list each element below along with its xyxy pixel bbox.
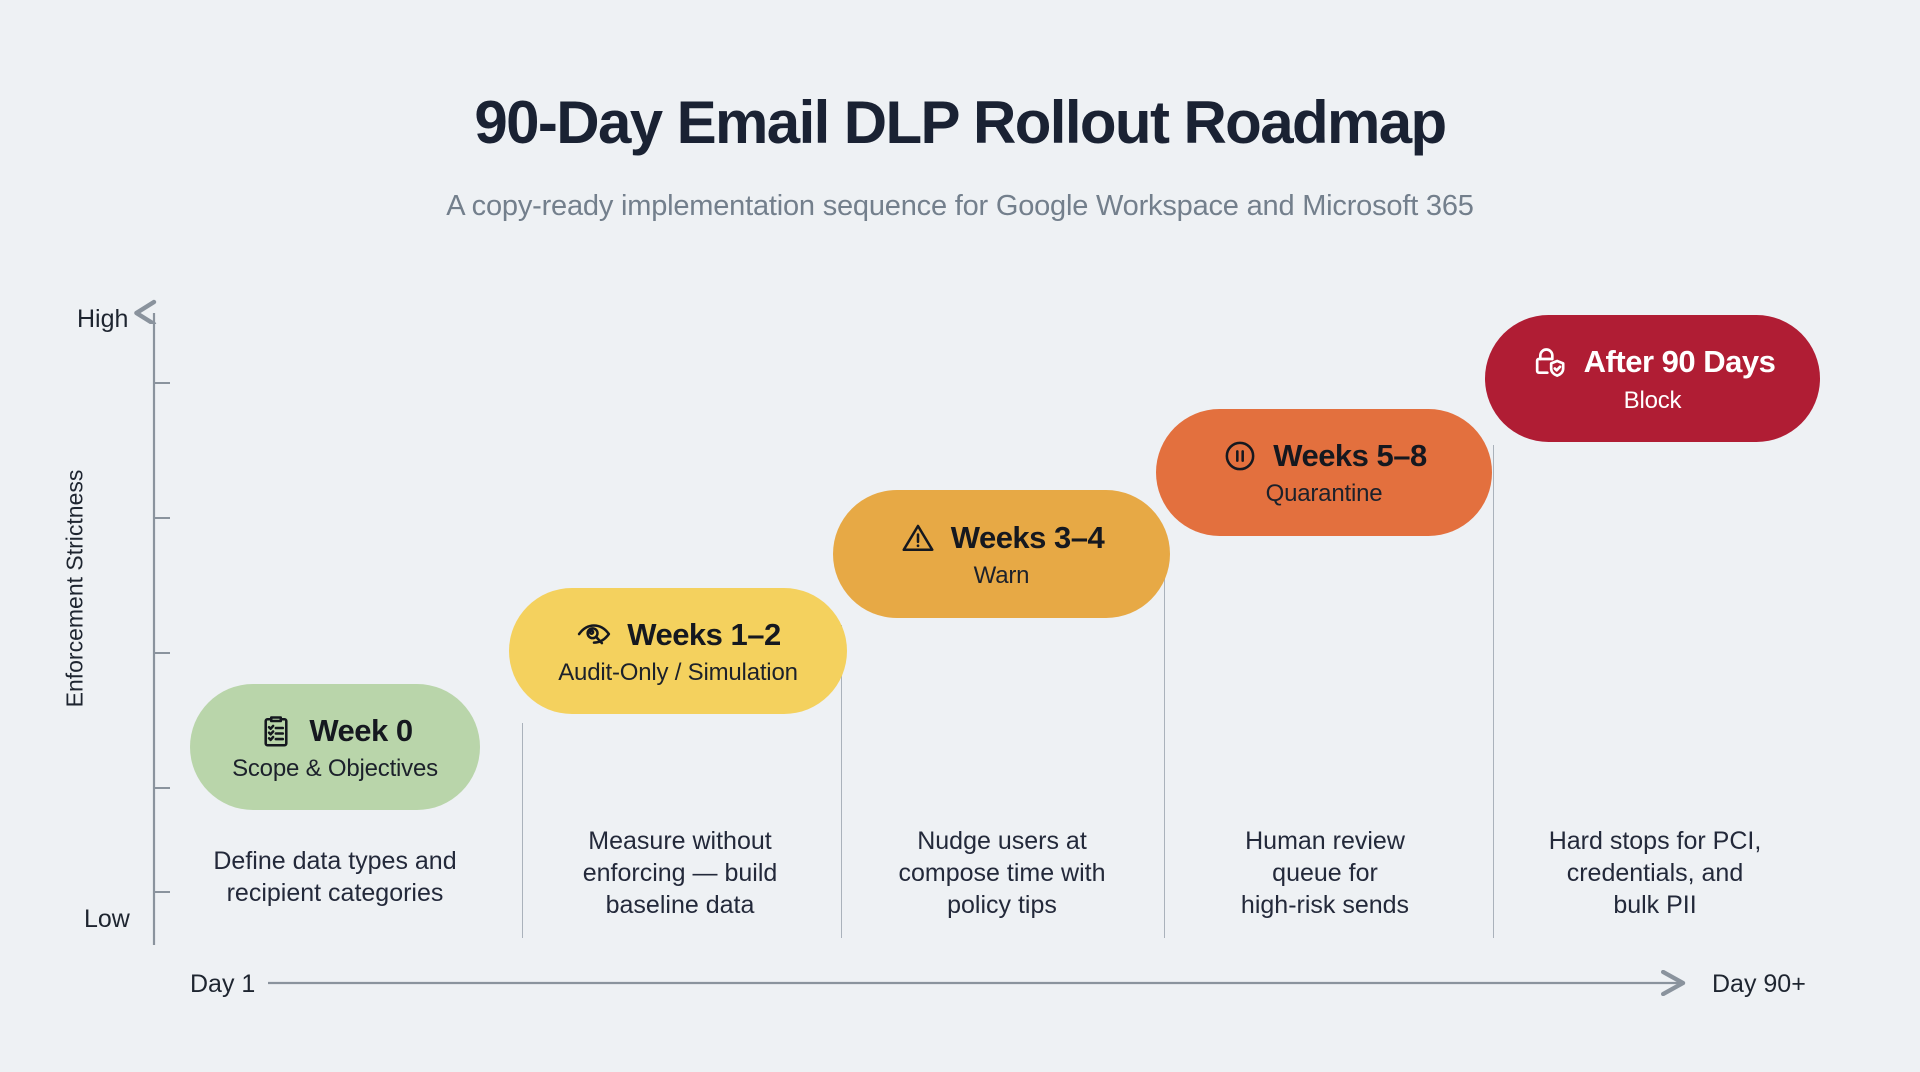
column-divider-1 [522, 723, 523, 938]
stage-subtitle: Quarantine [1266, 480, 1383, 508]
stage-header-row: Weeks 5–8 [1221, 437, 1427, 475]
stage-title: After 90 Days [1584, 344, 1776, 380]
stage-subtitle: Block [1624, 387, 1682, 415]
y-axis-low-label: Low [84, 905, 130, 934]
y-axis-title: Enforcement Strictness [62, 439, 89, 739]
stage-caption-weeks-5-8: Human reviewqueue forhigh-risk sends [1190, 825, 1460, 921]
eye-search-icon [575, 616, 613, 654]
column-divider-3 [1164, 542, 1165, 938]
stage-caption-weeks-3-4: Nudge users atcompose time withpolicy ti… [862, 825, 1142, 921]
stage-header-row: After 90 Days [1530, 342, 1776, 382]
stage-pill-weeks-3-4[interactable]: Weeks 3–4 Warn [833, 490, 1170, 618]
x-axis-start-label: Day 1 [190, 970, 255, 999]
stage-title: Weeks 1–2 [627, 617, 781, 653]
stage-caption-weeks-1-2: Measure withoutenforcing — buildbaseline… [540, 825, 820, 921]
stage-subtitle: Warn [974, 562, 1030, 590]
stage-pill-week-0[interactable]: Week 0 Scope & Objectives [190, 684, 480, 810]
warning-triangle-icon [899, 519, 937, 557]
stage-pill-after-90-days[interactable]: After 90 Days Block [1485, 315, 1820, 442]
clipboard-check-icon [257, 712, 295, 750]
stage-title: Week 0 [309, 713, 412, 749]
page-title: 90-Day Email DLP Rollout Roadmap [0, 88, 1920, 157]
stage-title: Weeks 3–4 [951, 520, 1105, 556]
stage-header-row: Week 0 [257, 712, 412, 750]
stage-header-row: Weeks 1–2 [575, 616, 781, 654]
stage-subtitle: Audit-Only / Simulation [558, 659, 798, 687]
stage-subtitle: Scope & Objectives [232, 755, 438, 783]
stage-pill-weeks-5-8[interactable]: Weeks 5–8 Quarantine [1156, 409, 1492, 536]
x-axis-end-label: Day 90+ [1712, 970, 1806, 999]
lock-shield-icon [1530, 342, 1570, 382]
stage-caption-after-90-days: Hard stops for PCI,credentials, andbulk … [1515, 825, 1795, 921]
stage-pill-weeks-1-2[interactable]: Weeks 1–2 Audit-Only / Simulation [509, 588, 847, 714]
stage-title: Weeks 5–8 [1273, 438, 1427, 474]
infographic-canvas: 90-Day Email DLP Rollout Roadmap A copy-… [0, 0, 1920, 1072]
pause-circle-icon [1221, 437, 1259, 475]
column-divider-4 [1493, 445, 1494, 938]
stage-header-row: Weeks 3–4 [899, 519, 1105, 557]
page-subtitle: A copy-ready implementation sequence for… [0, 190, 1920, 223]
y-axis-high-label: High [77, 305, 128, 334]
stage-caption-week-0: Define data types andrecipient categorie… [190, 845, 480, 909]
